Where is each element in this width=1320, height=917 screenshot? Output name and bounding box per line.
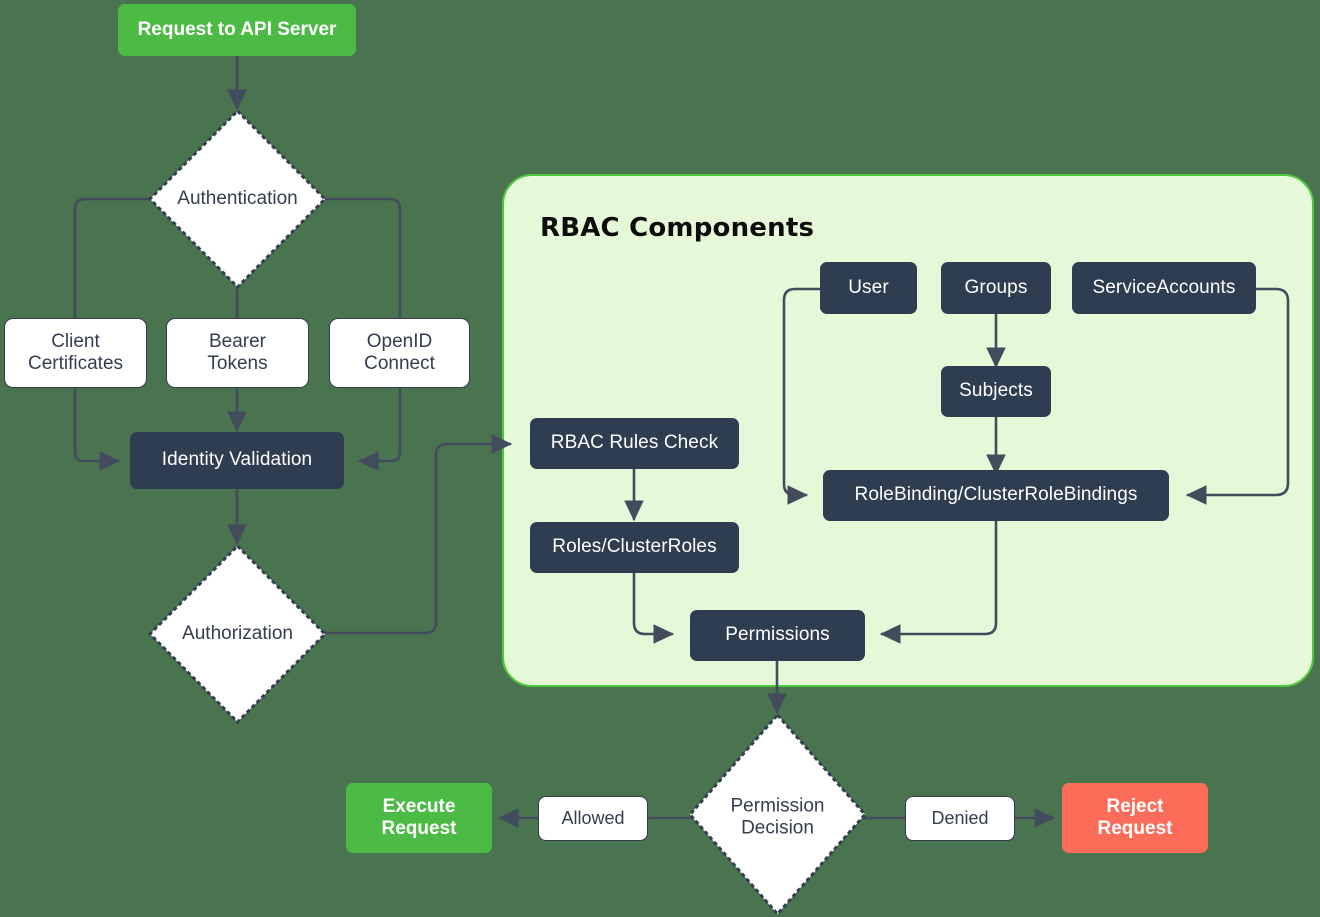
node-bearer-tokens[interactable]: Bearer Tokens	[166, 318, 309, 388]
node-bearer-tokens-label: Bearer Tokens	[207, 331, 267, 376]
node-serviceaccounts-label: ServiceAccounts	[1092, 277, 1235, 299]
node-authentication-label: Authentication	[147, 188, 328, 210]
rbac-components-panel-title: RBAC Components	[540, 213, 814, 243]
node-user-label: User	[848, 277, 889, 299]
node-identity-validation[interactable]: Identity Validation	[130, 432, 344, 489]
node-subjects-label: Subjects	[959, 380, 1033, 402]
node-groups[interactable]: Groups	[941, 262, 1051, 314]
flowchart-diagram: RBAC Components	[0, 0, 1320, 917]
node-reject-request[interactable]: Reject Request	[1062, 783, 1208, 853]
edge-label-allowed: Allowed	[538, 796, 648, 841]
node-request-to-api-server-label: Request to API Server	[138, 19, 337, 41]
edge-authentication-to-openid-connect	[320, 199, 400, 318]
edge-authorization-to-rbac-rules-check	[320, 444, 510, 633]
node-roles-clusterroles[interactable]: Roles/ClusterRoles	[530, 522, 739, 573]
node-client-certificates-label: Client Certificates	[28, 331, 123, 376]
node-permissions-label: Permissions	[725, 624, 830, 646]
edge-openid-connect-to-identity-validation	[360, 388, 400, 461]
node-serviceaccounts[interactable]: ServiceAccounts	[1072, 262, 1256, 314]
node-rolebinding-clusterrolebindings-label: RoleBinding/ClusterRoleBindings	[855, 484, 1138, 506]
node-permissions[interactable]: Permissions	[690, 610, 865, 661]
edge-label-allowed-text: Allowed	[561, 808, 624, 829]
node-groups-label: Groups	[965, 277, 1028, 299]
node-rolebinding-clusterrolebindings[interactable]: RoleBinding/ClusterRoleBindings	[823, 470, 1169, 521]
node-identity-validation-label: Identity Validation	[162, 449, 312, 471]
edge-authentication-to-client-certificates	[75, 199, 155, 318]
node-roles-clusterroles-label: Roles/ClusterRoles	[552, 536, 716, 558]
node-authentication[interactable]: Authentication	[147, 108, 328, 290]
node-authorization-label: Authorization	[147, 623, 328, 645]
node-client-certificates[interactable]: Client Certificates	[4, 318, 147, 388]
node-openid-connect[interactable]: OpenID Connect	[329, 318, 470, 388]
node-rbac-rules-check[interactable]: RBAC Rules Check	[530, 418, 739, 469]
node-rbac-rules-check-label: RBAC Rules Check	[551, 432, 718, 454]
edge-client-certificates-to-identity-validation	[75, 388, 118, 461]
node-permission-decision-label: Permission Decision	[687, 796, 868, 841]
node-openid-connect-label: OpenID Connect	[364, 331, 435, 376]
edge-label-denied: Denied	[905, 796, 1015, 841]
node-permission-decision[interactable]: Permission Decision	[687, 712, 868, 917]
edge-label-denied-text: Denied	[931, 808, 988, 829]
node-subjects[interactable]: Subjects	[941, 366, 1051, 417]
node-authorization[interactable]: Authorization	[147, 543, 328, 725]
node-user[interactable]: User	[820, 262, 917, 314]
node-execute-request[interactable]: Execute Request	[346, 783, 492, 853]
node-reject-request-label: Reject Request	[1098, 796, 1173, 841]
node-execute-request-label: Execute Request	[382, 796, 457, 841]
node-request-to-api-server[interactable]: Request to API Server	[118, 4, 356, 56]
